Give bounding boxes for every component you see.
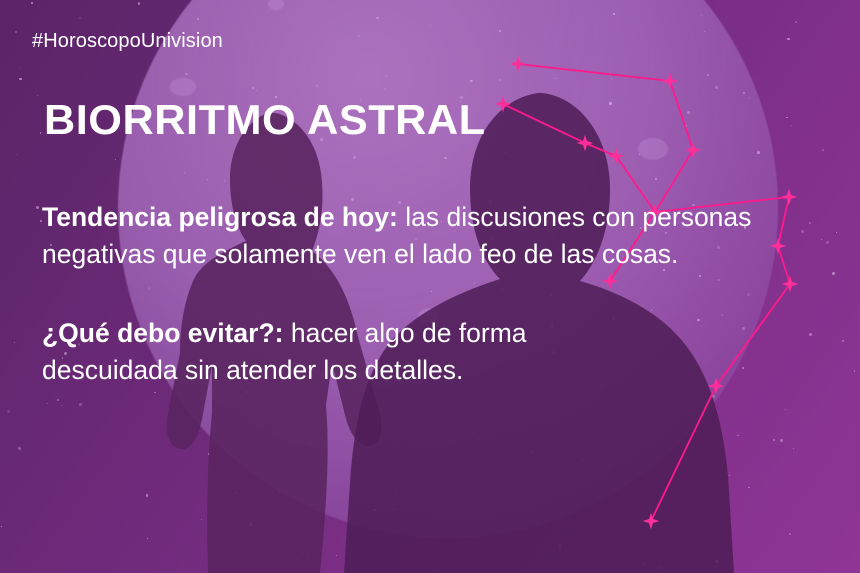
background-star <box>115 159 117 161</box>
background-star <box>36 206 39 209</box>
background-star <box>821 239 822 240</box>
background-star <box>787 38 789 40</box>
background-star <box>37 95 38 96</box>
background-star <box>786 117 787 118</box>
background-star <box>57 399 59 401</box>
background-star <box>19 78 22 81</box>
background-star <box>40 132 42 134</box>
background-star <box>79 403 82 406</box>
paragraph-2-lead: ¿Qué debo evitar?: <box>42 318 283 348</box>
background-star <box>832 272 835 275</box>
background-star <box>822 149 824 151</box>
background-star <box>7 410 10 413</box>
background-star <box>20 67 21 68</box>
paragraph-1-lead: Tendencia peligrosa de hoy: <box>42 202 398 232</box>
background-star <box>47 403 48 404</box>
background-star <box>780 439 783 442</box>
background-star <box>31 2 33 4</box>
background-star <box>18 447 21 450</box>
background-star <box>773 439 775 441</box>
background-star <box>16 154 17 155</box>
background-star <box>790 125 792 127</box>
horoscope-card: #HoroscopoUnivision BIORRITMO ASTRAL Ten… <box>0 0 860 573</box>
background-star <box>1 526 2 527</box>
background-star <box>854 370 855 371</box>
page-title: BIORRITMO ASTRAL <box>44 96 486 144</box>
paragraph-evitar: ¿Qué debo evitar?: hacer algo de forma d… <box>42 315 662 389</box>
background-star <box>809 222 811 224</box>
background-star <box>785 409 786 410</box>
background-star <box>15 31 18 34</box>
background-star <box>842 340 844 342</box>
background-star <box>826 241 829 244</box>
background-star <box>146 494 148 496</box>
background-star <box>793 448 794 449</box>
hashtag-label: #HoroscopoUnivision <box>32 30 223 53</box>
body-copy: Tendencia peligrosa de hoy: las discusio… <box>42 199 802 389</box>
background-star <box>61 405 63 407</box>
background-star <box>14 342 15 343</box>
paragraph-tendencia: Tendencia peligrosa de hoy: las discusio… <box>42 199 792 273</box>
background-star <box>809 333 812 336</box>
background-star <box>147 538 148 539</box>
background-star <box>79 17 81 19</box>
background-star <box>138 2 141 5</box>
background-star <box>795 21 797 23</box>
background-star <box>789 533 791 535</box>
background-star <box>836 232 837 233</box>
